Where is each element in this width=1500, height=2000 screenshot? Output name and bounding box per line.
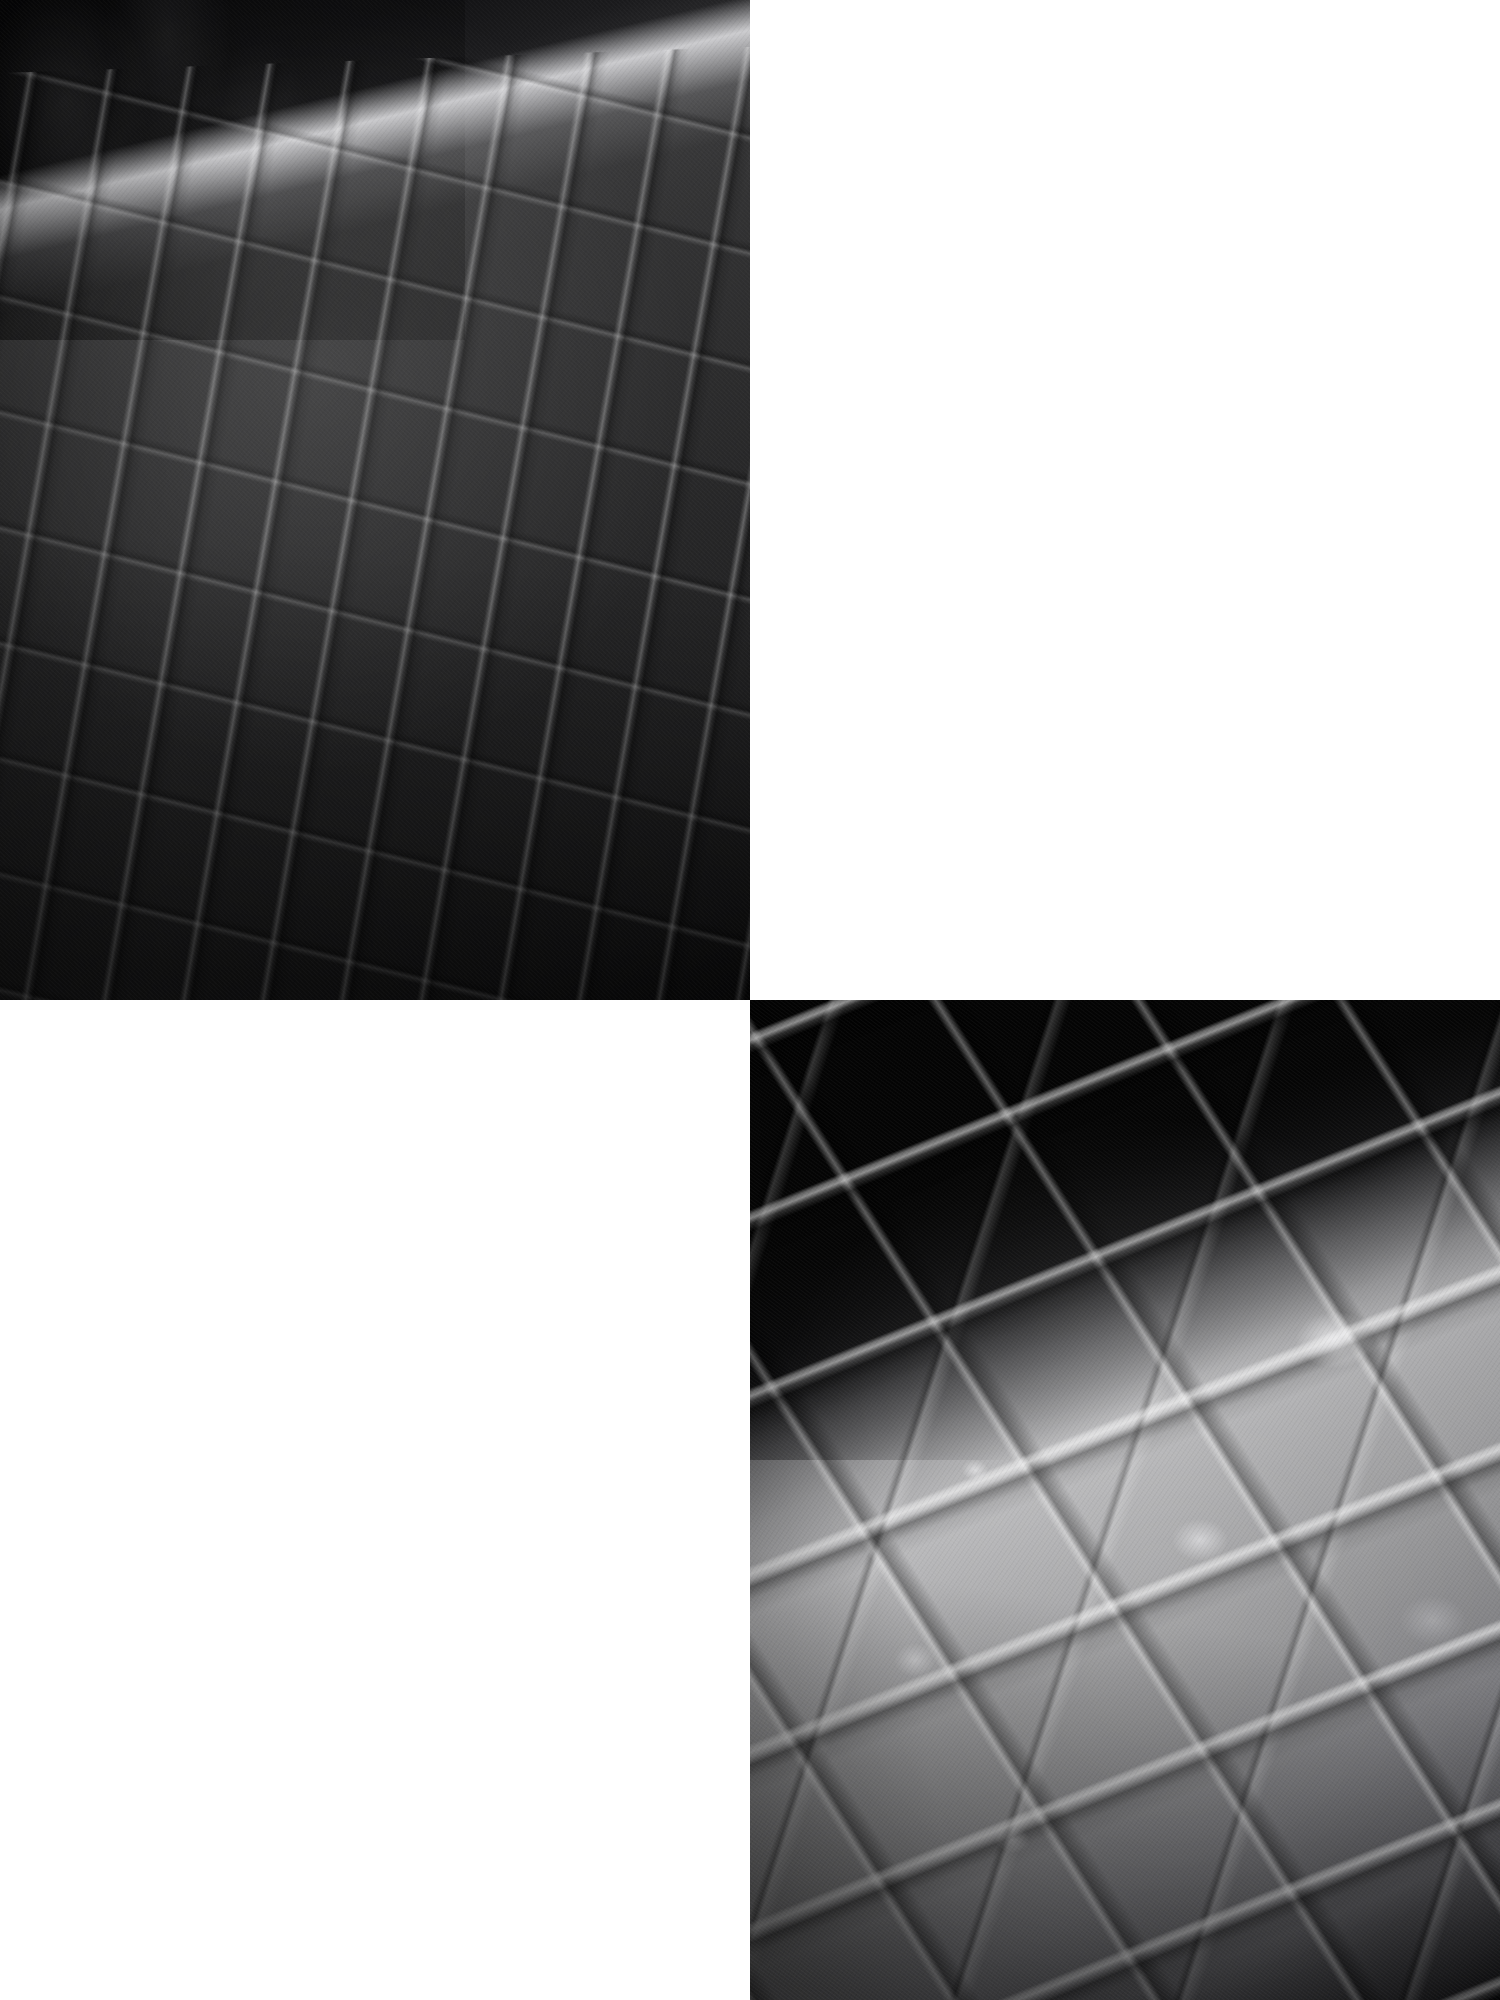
intact-image-grain (0, 0, 750, 1000)
intact-cuticle-sem-image (0, 0, 750, 1000)
damaged-cuticle-sem-image (750, 1000, 1500, 2000)
damaged-cuticle-text-cell: Damaged Cuticle It’s a the low quality s… (0, 1000, 750, 2000)
comparison-page: Intact Cuticle It’s a the highest qualit… (0, 0, 1500, 2000)
damaged-cuticle-image-cell (750, 1000, 1500, 2000)
intact-cuticle-image-cell (0, 0, 750, 1000)
intact-cuticle-text-cell: Intact Cuticle It’s a the highest qualit… (750, 0, 1500, 1000)
damaged-image-grain (750, 1000, 1500, 2000)
